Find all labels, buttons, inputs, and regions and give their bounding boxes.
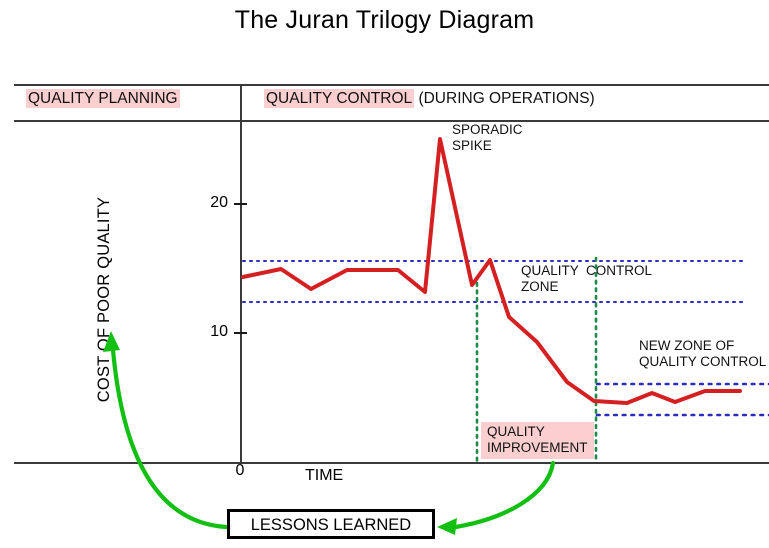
annotation-quality-improvement: QUALITY IMPROVEMENT: [481, 422, 594, 459]
phase-planning-text: QUALITY PLANNING: [26, 89, 180, 108]
phase-divider-line: [240, 84, 242, 122]
annotation-sporadic-spike: SPORADIC SPIKE: [452, 122, 523, 153]
x-axis-label: TIME: [305, 467, 343, 485]
y-axis-label: COST OF POOR QUALITY: [95, 182, 114, 417]
x-origin-label: 0: [228, 462, 252, 480]
y-axis-line: [240, 122, 242, 463]
phase-label-quality-planning: QUALITY PLANNING: [26, 90, 180, 108]
y-tick-label-20: 20: [194, 194, 228, 212]
phase-control-text: QUALITY CONTROL: [264, 89, 414, 108]
phase-label-quality-control: QUALITY CONTROL (DURING OPERATIONS): [264, 90, 595, 108]
band-top-rule: [14, 84, 769, 86]
page-title: The Juran Trilogy Diagram: [0, 6, 769, 35]
arrowhead-lessons: [437, 518, 457, 535]
x-axis-line: [14, 462, 769, 464]
annotation-quality-control-zone: QUALITY CONTROL ZONE: [521, 263, 652, 294]
annotation-new-zone-of-quality-control: NEW ZONE OF QUALITY CONTROL: [639, 338, 766, 369]
y-tick-10: [234, 332, 247, 334]
diagram-vector-layer: [0, 0, 769, 548]
phase-control-suffix: (DURING OPERATIONS): [414, 90, 595, 107]
lessons-learned-box[interactable]: LESSONS LEARNED: [227, 509, 435, 539]
y-tick-label-10: 10: [194, 323, 228, 341]
lessons-learned-label: LESSONS LEARNED: [230, 516, 432, 535]
arrow-lessons-to-planning: [113, 350, 226, 527]
juran-trilogy-diagram: The Juran Trilogy Diagram QUALITY PLANNI…: [0, 0, 769, 548]
y-tick-20: [234, 203, 247, 205]
arrow-improvement-to-lessons: [449, 463, 553, 528]
band-bottom-rule: [14, 120, 769, 122]
